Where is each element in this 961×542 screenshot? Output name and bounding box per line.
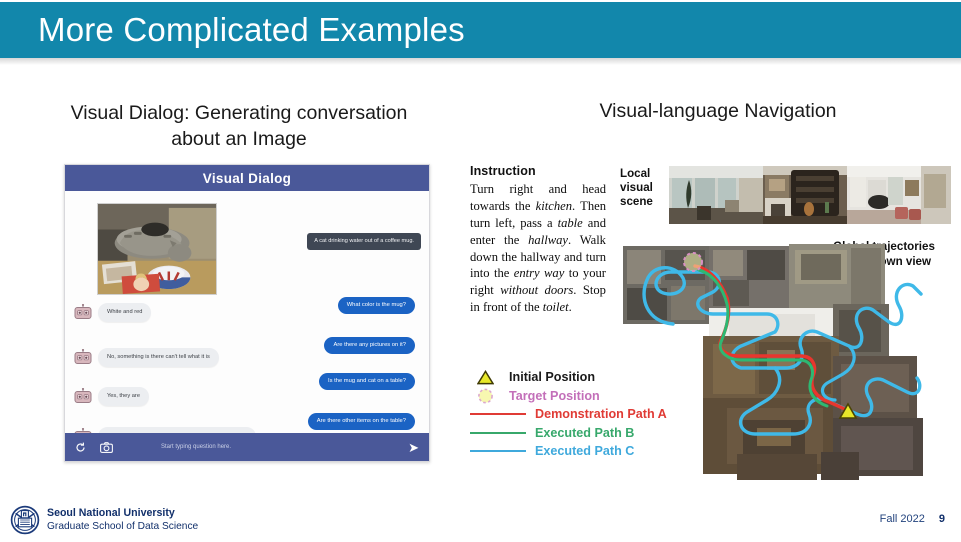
legend-item-target-position: Target Position	[470, 387, 695, 406]
dialog-question-bubble-3: Is the mug and cat on a table?	[319, 373, 415, 390]
visual-dialog-conversation-area: A cat drinking water out of a coffee mug…	[65, 191, 429, 433]
left-heading-line-1: Visual Dialog: Generating conversation	[34, 100, 444, 126]
instruction-text: Turn right and head towards the kitchen.…	[470, 181, 606, 316]
send-icon[interactable]: ➤	[408, 441, 419, 454]
dialog-answer-row-1: White and red	[73, 303, 151, 322]
dialog-answer-bubble-2: No, something is there can't tell what i…	[98, 348, 219, 367]
left-section-heading: Visual Dialog: Generating conversation a…	[34, 100, 444, 153]
triangle-marker-icon	[470, 370, 500, 385]
instruction-label: Instruction	[470, 164, 606, 178]
navigation-legend: Initial Position Target Position Demonst…	[470, 368, 695, 461]
dialog-answer-bubble-4: Yes, magazines, books, toaster and baske…	[98, 427, 256, 433]
robot-avatar-icon	[73, 304, 93, 321]
dialog-image-cat	[97, 203, 217, 295]
instruction-block: Instruction Turn right and head towards …	[470, 164, 606, 316]
dialog-answer-row-2: No, something is there can't tell what i…	[73, 348, 219, 367]
dialog-answer-row-4: Yes, magazines, books, toaster and baske…	[73, 427, 256, 433]
dialog-answer-row-3: Yes, they are	[73, 387, 149, 406]
robot-avatar-icon	[73, 349, 93, 366]
legend-label-executed-path-b: Executed Path B	[535, 426, 634, 440]
dialog-answer-bubble-3: Yes, they are	[98, 387, 149, 406]
dialog-question-bubble-4: Are there other items on the table?	[308, 413, 415, 430]
right-heading-text: Visual-language Navigation	[455, 100, 955, 123]
legend-label-demonstration-path-a: Demonstration Path A	[535, 407, 667, 421]
visual-dialog-input-bar: Start typing question here. ➤	[65, 433, 429, 461]
dialog-question-bubble-2: Are there any pictures on it?	[324, 337, 415, 354]
question-input-placeholder[interactable]: Start typing question here.	[127, 444, 394, 450]
line-marker-icon-cyan	[470, 450, 526, 452]
footer-branding: Seoul National University Graduate Schoo…	[10, 505, 198, 535]
line-marker-icon-red	[470, 413, 526, 415]
footer-university-name: Seoul National University	[47, 507, 198, 521]
footer-text-block: Seoul National University Graduate Schoo…	[47, 507, 198, 534]
dialog-caption-bubble: A cat drinking water out of a coffee mug…	[307, 233, 421, 250]
visual-dialog-app: Visual Dialog	[64, 164, 430, 462]
line-marker-icon-green	[470, 432, 526, 434]
legend-label-initial-position: Initial Position	[509, 370, 595, 384]
page-title: More Complicated Examples	[0, 11, 465, 49]
dialog-answer-bubble-1: White and red	[98, 303, 151, 322]
local-visual-scene-label: Local visual scene	[620, 167, 666, 209]
legend-item-executed-path-c: Executed Path C	[470, 442, 695, 461]
legend-label-target-position: Target Position	[509, 389, 600, 403]
dialog-question-bubble-1: What color is the mug?	[338, 297, 415, 314]
footer-meta: Fall 2022 9	[880, 513, 945, 525]
circle-marker-icon	[470, 388, 500, 404]
right-section-heading: Visual-language Navigation	[455, 100, 955, 123]
snu-crest-icon	[10, 505, 40, 535]
visual-dialog-app-title: Visual Dialog	[65, 165, 429, 191]
camera-icon[interactable]	[100, 442, 113, 453]
refresh-icon[interactable]	[75, 442, 86, 453]
legend-label-executed-path-c: Executed Path C	[535, 444, 634, 458]
slide-title-bar: More Complicated Examples	[0, 2, 961, 58]
legend-item-demonstration-path-a: Demonstration Path A	[470, 405, 695, 424]
footer-term: Fall 2022	[880, 513, 925, 525]
title-bar-shadow	[0, 58, 961, 65]
left-heading-line-2: about an Image	[34, 126, 444, 152]
local-visual-scene-panorama	[669, 166, 951, 224]
legend-item-initial-position: Initial Position	[470, 368, 695, 387]
robot-avatar-icon	[73, 428, 93, 433]
legend-item-executed-path-b: Executed Path B	[470, 424, 695, 443]
footer-page-number: 9	[939, 513, 945, 525]
robot-avatar-icon	[73, 388, 93, 405]
footer-school-name: Graduate School of Data Science	[47, 520, 198, 533]
